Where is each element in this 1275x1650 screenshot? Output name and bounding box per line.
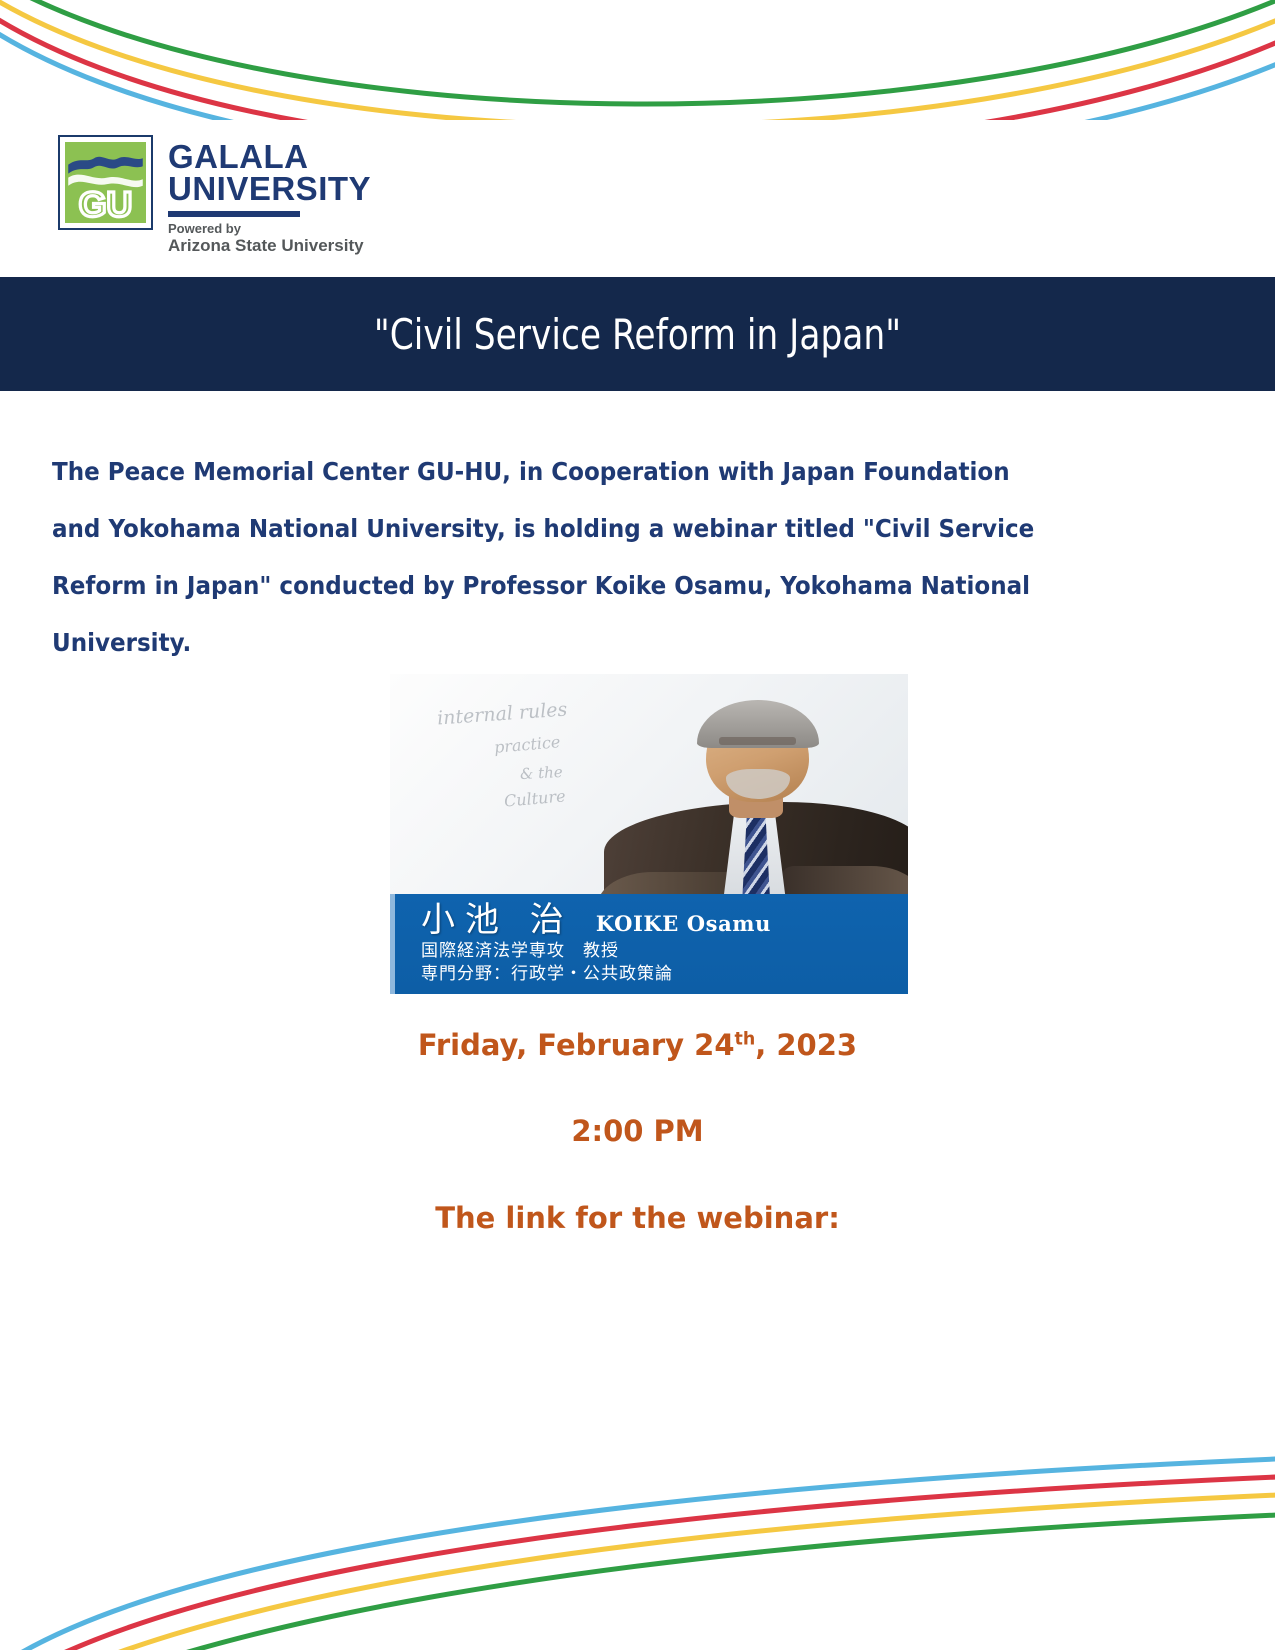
caption-japanese-name: 小池 治 bbox=[421, 900, 574, 940]
top-swoosh-decoration bbox=[0, 0, 1275, 120]
event-date: Friday, February 24th, 2023 bbox=[0, 1028, 1275, 1062]
logo-mark-gu: GU bbox=[58, 135, 153, 230]
webinar-link-label: The link for the webinar: bbox=[0, 1201, 1275, 1235]
mountain-gu-icon: GU bbox=[65, 142, 146, 223]
intro-paragraph: The Peace Memorial Center GU-HU, in Coop… bbox=[52, 443, 1058, 671]
caption-specialty: 専門分野：行政学・公共政策論 bbox=[421, 963, 908, 986]
caption-affiliation: 国際経済法学専攻 教授 bbox=[421, 940, 908, 963]
logo-divider bbox=[168, 211, 300, 217]
logo-wordmark: GALALA UNIVERSITY Powered by Arizona Sta… bbox=[168, 135, 371, 256]
event-date-suffix: , 2023 bbox=[755, 1028, 857, 1062]
speaker-photo: internal rules practice & the Culture bbox=[390, 674, 908, 994]
event-details: Friday, February 24th, 2023 2:00 PM The … bbox=[0, 1028, 1275, 1235]
bottom-swoosh-decoration bbox=[0, 1450, 1275, 1650]
photo-caption-bar: 小池 治 KOIKE Osamu 国際経済法学専攻 教授 専門分野：行政学・公共… bbox=[390, 894, 908, 994]
flyer-page: GU GALALA UNIVERSITY Powered by Arizona … bbox=[0, 0, 1275, 1650]
caption-english-name: KOIKE Osamu bbox=[596, 911, 771, 936]
event-date-prefix: Friday, February 24 bbox=[418, 1028, 735, 1062]
university-logo: GU GALALA UNIVERSITY Powered by Arizona … bbox=[58, 135, 371, 256]
logo-line-university: UNIVERSITY bbox=[168, 173, 371, 205]
logo-powered-by: Powered by bbox=[168, 221, 371, 236]
svg-text:GU: GU bbox=[79, 185, 132, 223]
event-time: 2:00 PM bbox=[0, 1114, 1275, 1148]
whiteboard-note-3: & the bbox=[519, 762, 563, 782]
logo-mark-graphic: GU bbox=[65, 142, 146, 223]
logo-line-galala: GALALA bbox=[168, 141, 371, 173]
page-title: "Civil Service Reform in Japan" bbox=[374, 310, 901, 359]
speaker-brow bbox=[719, 737, 796, 745]
logo-parent-university: Arizona State University bbox=[168, 236, 371, 256]
title-banner: "Civil Service Reform in Japan" bbox=[0, 277, 1275, 391]
caption-name-row: 小池 治 KOIKE Osamu bbox=[421, 900, 908, 940]
event-date-ordinal: th bbox=[735, 1029, 756, 1049]
